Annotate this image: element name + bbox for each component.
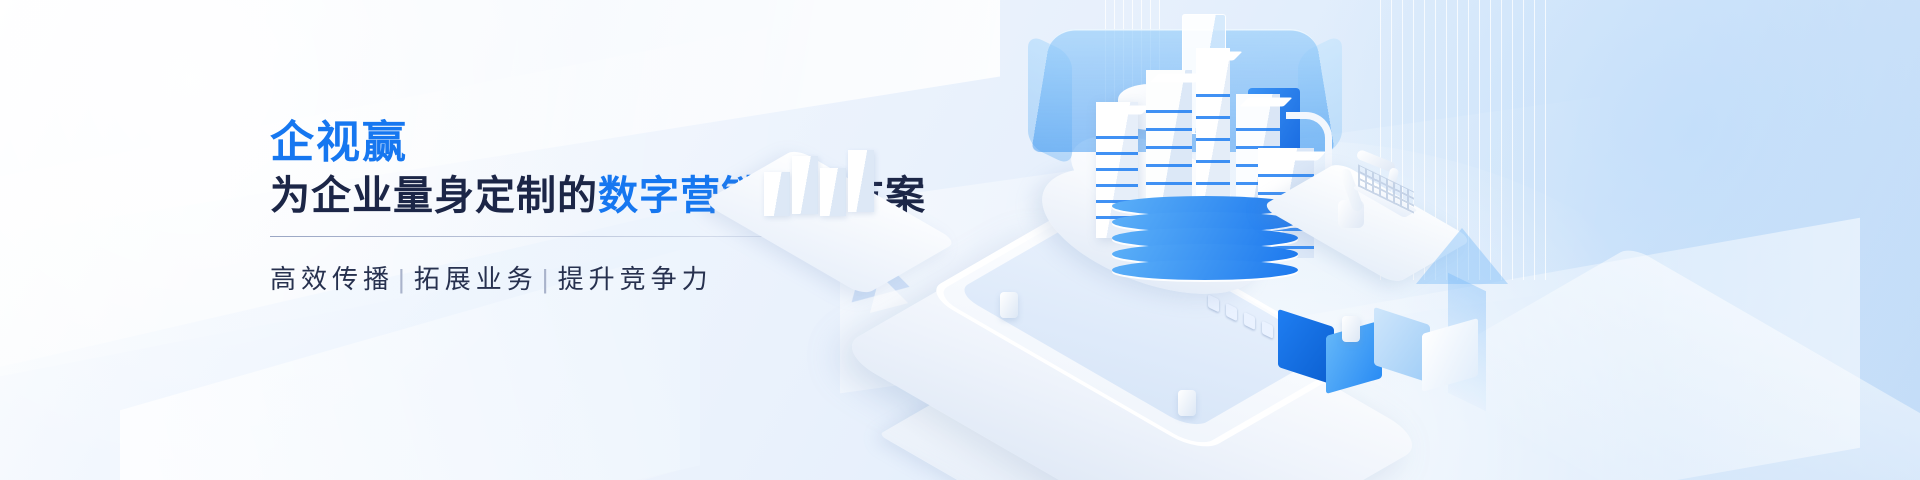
hero-illustration xyxy=(860,0,1920,480)
tagline-separator-1: | xyxy=(398,264,410,294)
peg xyxy=(1178,390,1196,416)
peg xyxy=(1000,292,1018,318)
mini-building-cluster xyxy=(764,146,914,216)
tagline-separator-2: | xyxy=(542,264,554,294)
up-arrow-icon xyxy=(1416,228,1508,284)
headline-prefix: 为企业量身定制的 xyxy=(270,174,598,218)
divider-rule xyxy=(270,236,845,237)
tagline-item-1: 高效传播 xyxy=(270,264,394,294)
building-roof xyxy=(1240,98,1293,107)
building-roof xyxy=(1100,106,1151,115)
blue-ribbon-wave xyxy=(1278,318,1478,380)
tagline-item-3: 提升竞争力 xyxy=(558,264,713,294)
tagline-item-2: 拓展业务 xyxy=(414,264,538,294)
hero-banner: 企视赢 为企业量身定制的数字营销解决方案 高效传播|拓展业务|提升竞争力 xyxy=(0,0,1920,480)
peg xyxy=(1342,316,1360,342)
